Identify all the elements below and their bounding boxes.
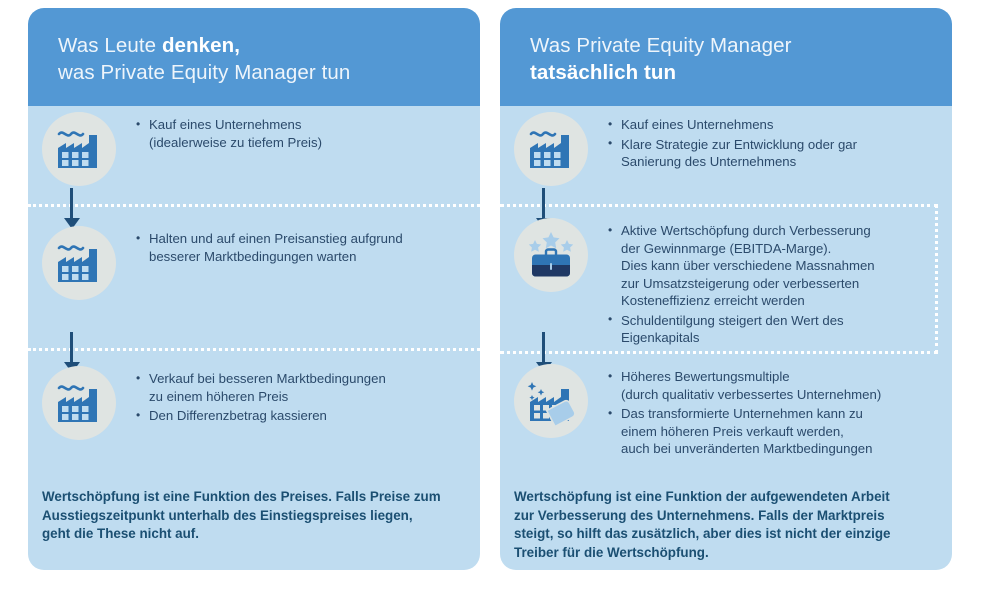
step-left-3-bullets: Verkauf bei besseren Marktbedingungen zu… bbox=[136, 366, 386, 427]
step-left-1-bullets: Kauf eines Unternehmens (idealerweise zu… bbox=[136, 112, 322, 153]
bullet: Klare Strategie zur Entwicklung oder gar… bbox=[608, 136, 857, 171]
bullet: Halten und auf einen Preisanstieg aufgru… bbox=[136, 230, 403, 265]
step-left-2: Halten und auf einen Preisanstieg aufgru… bbox=[42, 226, 470, 300]
factory-icon bbox=[514, 112, 588, 186]
factory-sparkle-tag-icon bbox=[514, 364, 588, 438]
step-right-2: Aktive Wertschöpfung durch Verbesserung … bbox=[514, 218, 942, 349]
arrow-left-1 bbox=[70, 188, 73, 220]
panel-right-footer: Wertschöpfung ist eine Funktion der aufg… bbox=[514, 488, 930, 562]
step-right-1: Kauf eines Unternehmens Klare Strategie … bbox=[514, 112, 942, 186]
panel-right-title-line2: tatsächlich tun bbox=[530, 59, 922, 86]
bullet: Höheres Bewertungsmultiple (durch qualit… bbox=[608, 368, 881, 403]
step-right-3-bullets: Höheres Bewertungsmultiple (durch qualit… bbox=[608, 364, 881, 460]
factory-icon bbox=[42, 366, 116, 440]
bullet: Aktive Wertschöpfung durch Verbesserung … bbox=[608, 222, 875, 310]
arrow-right-1 bbox=[542, 188, 545, 220]
bullet: Schuldentilgung steigert den Wert des Ei… bbox=[608, 312, 875, 347]
step-right-1-bullets: Kauf eines Unternehmens Klare Strategie … bbox=[608, 112, 857, 173]
panel-left-body: Kauf eines Unternehmens (idealerweise zu… bbox=[28, 106, 480, 570]
panel-right-title-line1: Was Private Equity Manager bbox=[530, 32, 922, 59]
step-right-3: Höheres Bewertungsmultiple (durch qualit… bbox=[514, 364, 942, 460]
divider-left-bottom bbox=[28, 348, 480, 351]
panel-left-title-emphasis: denken, bbox=[162, 34, 240, 57]
panel-left-title-line1: Was Leute denken, bbox=[58, 32, 450, 59]
panel-left-footer: Wertschöpfung ist eine Funktion des Prei… bbox=[42, 488, 458, 544]
step-left-3: Verkauf bei besseren Marktbedingungen zu… bbox=[42, 366, 470, 440]
bullet: Kauf eines Unternehmens (idealerweise zu… bbox=[136, 116, 322, 151]
step-left-1: Kauf eines Unternehmens (idealerweise zu… bbox=[42, 112, 470, 186]
bullet: Das transformierte Unternehmen kann zu e… bbox=[608, 405, 881, 458]
panel-right-header: Was Private Equity Manager tatsächlich t… bbox=[500, 8, 952, 106]
arrow-left-2 bbox=[70, 332, 73, 364]
factory-icon bbox=[42, 112, 116, 186]
divider-left-top bbox=[28, 204, 480, 207]
panel-left-header: Was Leute denken, was Private Equity Man… bbox=[28, 8, 480, 106]
bullet: Den Differenzbetrag kassieren bbox=[136, 407, 386, 425]
bullet: Kauf eines Unternehmens bbox=[608, 116, 857, 134]
infographic-stage: Was Leute denken, was Private Equity Man… bbox=[0, 0, 1000, 600]
step-left-2-bullets: Halten und auf einen Preisanstieg aufgru… bbox=[136, 226, 403, 267]
panel-left: Was Leute denken, was Private Equity Man… bbox=[28, 8, 480, 570]
step-right-2-bullets: Aktive Wertschöpfung durch Verbesserung … bbox=[608, 218, 875, 349]
briefcase-stars-icon bbox=[514, 218, 588, 292]
bullet: Verkauf bei besseren Marktbedingungen zu… bbox=[136, 370, 386, 405]
factory-icon bbox=[42, 226, 116, 300]
panel-left-title-line2: was Private Equity Manager tun bbox=[58, 59, 450, 86]
panel-right-body: Kauf eines Unternehmens Klare Strategie … bbox=[500, 106, 952, 570]
panel-right: Was Private Equity Manager tatsächlich t… bbox=[500, 8, 952, 570]
